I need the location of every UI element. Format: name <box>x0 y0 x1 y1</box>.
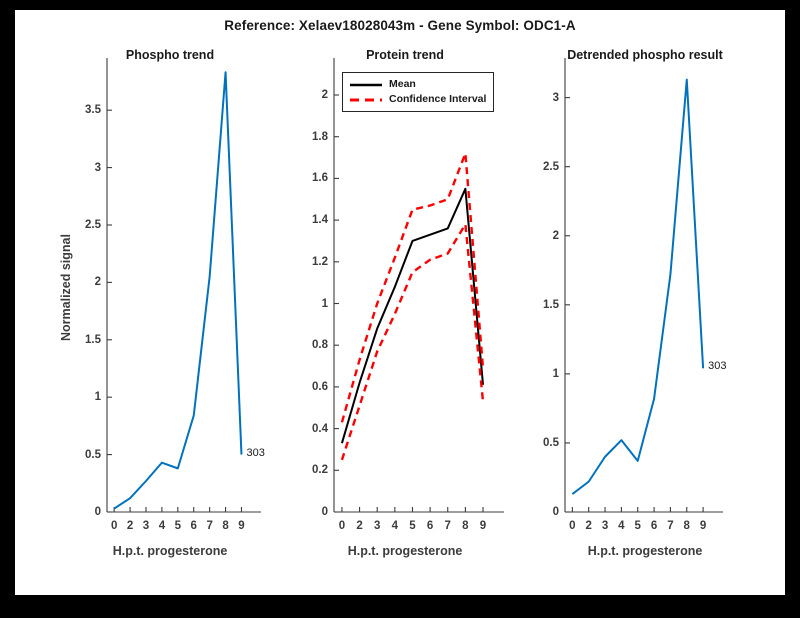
x-tick-label: 6 <box>651 520 657 532</box>
y-tick-label: 1.4 <box>312 214 328 226</box>
chart-svg-phospho-trend <box>55 48 285 578</box>
legend-entry: Mean <box>349 77 486 92</box>
x-tick-label: 0 <box>339 520 345 532</box>
x-tick-label: 4 <box>159 520 165 532</box>
y-tick-label: 2.5 <box>543 161 559 173</box>
series-line <box>572 80 703 494</box>
y-tick-label: 2.5 <box>85 219 101 231</box>
x-tick-label: 5 <box>409 520 415 532</box>
x-tick-label: 3 <box>602 520 608 532</box>
legend-entry-label: Confidence Interval <box>389 92 486 107</box>
x-tick-label: 5 <box>635 520 641 532</box>
x-tick-label: 0 <box>569 520 575 532</box>
y-tick-label: 0.2 <box>312 464 328 476</box>
x-tick-label: 2 <box>127 520 133 532</box>
y-tick-label: 1.2 <box>312 256 328 268</box>
y-tick-label: 1.5 <box>543 299 559 311</box>
x-axis-label: H.p.t. progesterone <box>525 544 765 558</box>
x-axis-label: H.p.t. progesterone <box>55 544 285 558</box>
x-tick-label: 7 <box>667 520 673 532</box>
figure-canvas: Reference: Xelaev18028043m - Gene Symbol… <box>15 10 785 595</box>
x-tick-label: 9 <box>700 520 706 532</box>
series-endpoint-label: 303 <box>246 447 264 459</box>
panel-phospho-trend: Phospho trend 00.511.522.533.50234567893… <box>55 48 285 578</box>
y-tick-label: 1.8 <box>312 131 328 143</box>
y-tick-label: 0 <box>322 506 328 518</box>
x-tick-label: 6 <box>191 520 197 532</box>
x-tick-label: 2 <box>585 520 591 532</box>
y-tick-label: 3.5 <box>85 104 101 116</box>
series-line <box>342 189 483 443</box>
x-axis-label: H.p.t. progesterone <box>290 544 520 558</box>
y-tick-label: 1 <box>95 391 101 403</box>
y-tick-label: 2 <box>553 230 559 242</box>
x-tick-label: 6 <box>427 520 433 532</box>
y-tick-label: 0 <box>95 506 101 518</box>
x-tick-label: 0 <box>111 520 117 532</box>
legend-entry-label: Mean <box>389 77 416 92</box>
figure-title: Reference: Xelaev18028043m - Gene Symbol… <box>15 18 785 33</box>
x-tick-label: 9 <box>480 520 486 532</box>
chart-legend[interactable]: MeanConfidence Interval <box>342 72 494 112</box>
y-tick-label: 1 <box>322 298 328 310</box>
x-tick-label: 8 <box>684 520 690 532</box>
chart-svg-detrended-phospho-result <box>525 48 765 578</box>
y-tick-label: 1.6 <box>312 172 328 184</box>
chart-svg-protein-trend <box>290 48 520 578</box>
x-tick-label: 3 <box>143 520 149 532</box>
y-tick-label: 2 <box>322 89 328 101</box>
x-tick-label: 4 <box>618 520 624 532</box>
y-tick-label: 0.4 <box>312 423 328 435</box>
x-tick-label: 9 <box>238 520 244 532</box>
series-line <box>342 153 483 422</box>
x-tick-label: 5 <box>175 520 181 532</box>
x-tick-label: 3 <box>374 520 380 532</box>
y-tick-label: 0.5 <box>543 437 559 449</box>
y-axis-label: Normalized signal <box>59 234 73 341</box>
x-tick-label: 4 <box>392 520 398 532</box>
x-tick-label: 7 <box>206 520 212 532</box>
plot-area-phospho-trend: 00.511.522.533.5023456789303Normalized s… <box>55 48 285 578</box>
series-line <box>114 72 241 508</box>
series-line <box>342 224 483 460</box>
y-tick-label: 2 <box>95 276 101 288</box>
x-tick-label: 8 <box>222 520 228 532</box>
y-tick-label: 0.6 <box>312 381 328 393</box>
y-tick-label: 3 <box>553 92 559 104</box>
plot-area-detrended-phospho-result: 00.511.522.53023456789303H.p.t. progeste… <box>525 48 765 578</box>
panel-detrended-phospho-result: Detrended phospho result 00.511.522.5302… <box>525 48 765 578</box>
series-endpoint-label: 303 <box>708 360 726 372</box>
y-tick-label: 1 <box>553 368 559 380</box>
x-tick-label: 7 <box>445 520 451 532</box>
x-tick-label: 8 <box>462 520 468 532</box>
y-tick-label: 0 <box>553 506 559 518</box>
plot-area-protein-trend: 00.20.40.60.811.21.41.61.82023456789H.p.… <box>290 48 520 578</box>
panel-protein-trend: Protein trend 00.20.40.60.811.21.41.61.8… <box>290 48 520 578</box>
y-tick-label: 0.5 <box>85 449 101 461</box>
legend-entry: Confidence Interval <box>349 92 486 107</box>
legend-dashed-line-icon <box>349 95 383 105</box>
y-tick-label: 1.5 <box>85 334 101 346</box>
y-tick-label: 0.8 <box>312 339 328 351</box>
x-tick-label: 2 <box>356 520 362 532</box>
legend-solid-line-icon <box>349 80 383 90</box>
y-tick-label: 3 <box>95 162 101 174</box>
